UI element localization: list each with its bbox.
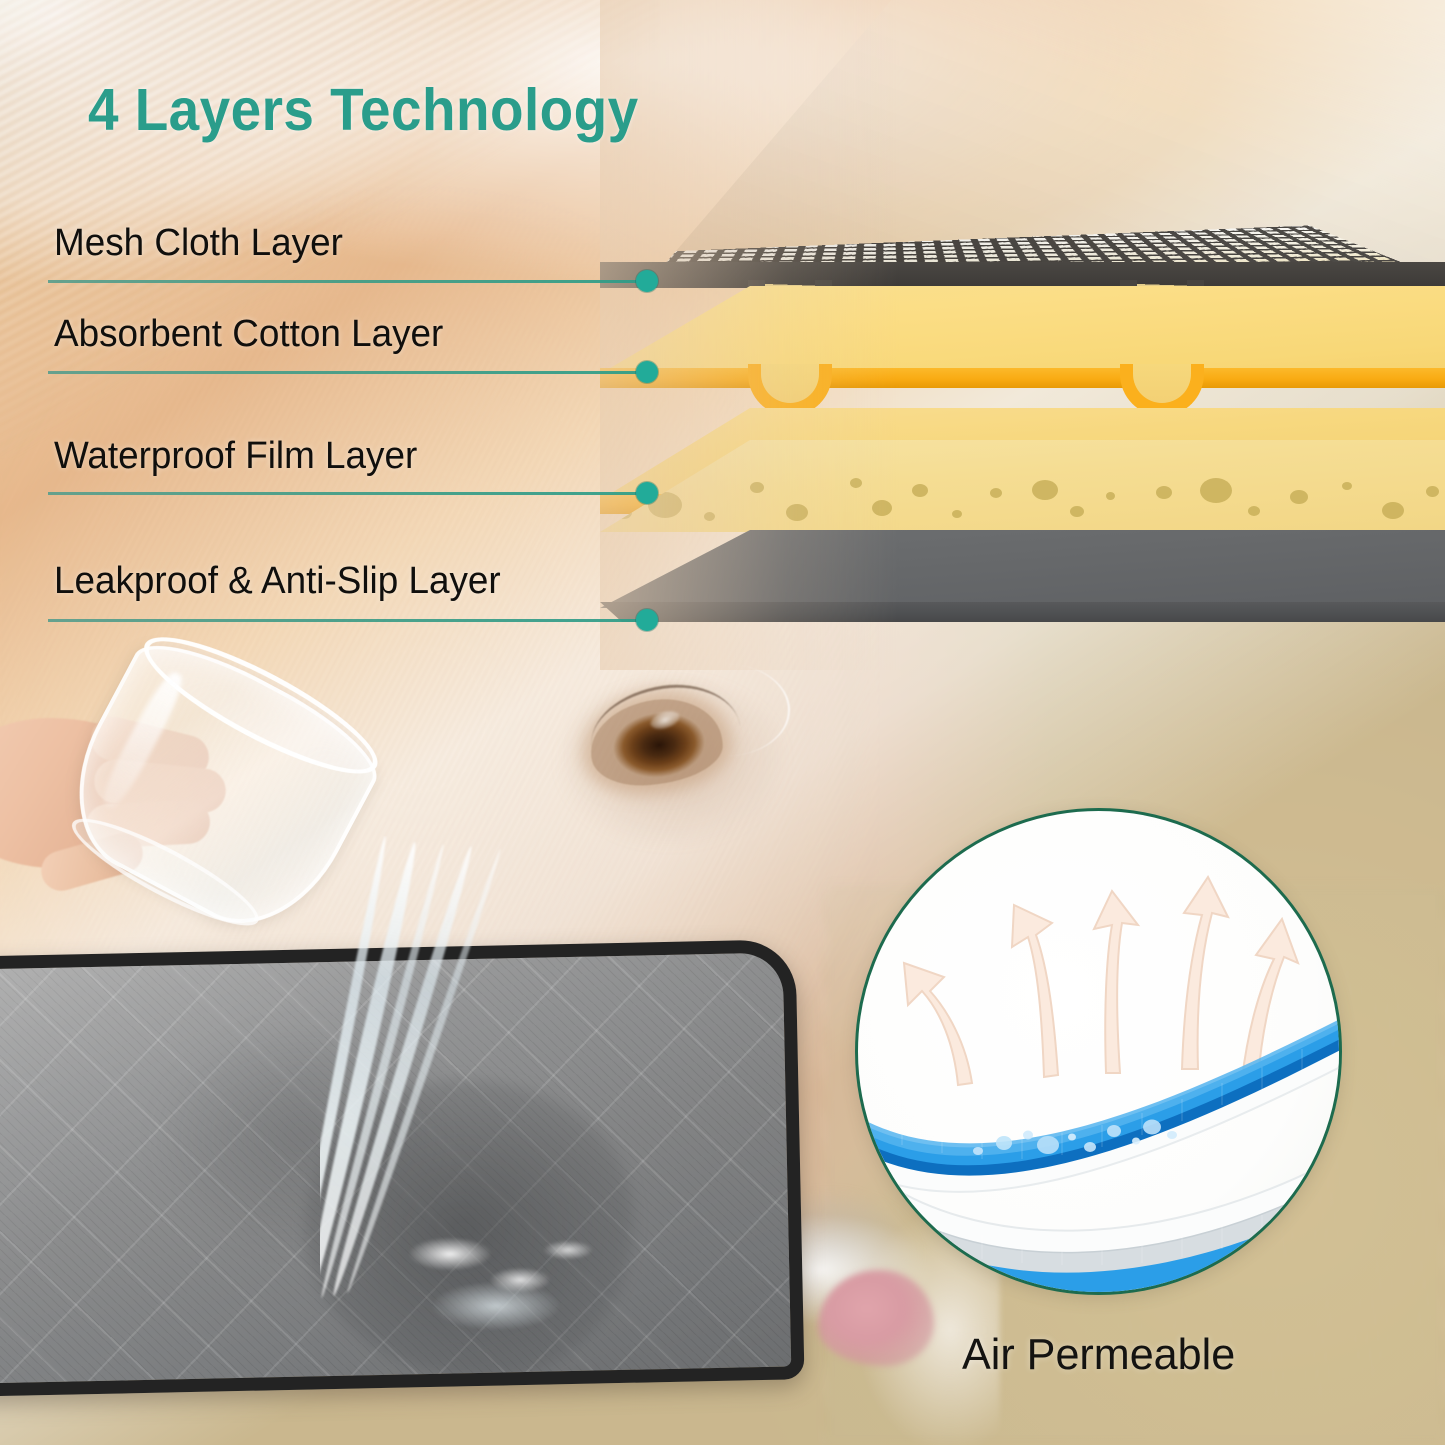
air-permeable-inset [855,808,1342,1295]
page-title: 4 Layers Technology [88,76,639,144]
cotton-front-edge [600,368,1445,388]
leakproof-anti-slip-layer-graphic [600,530,1445,650]
waterproof-film-layer-marker [636,482,658,504]
leader-line-absorbent-cotton [48,371,648,374]
leader-line-mesh-cloth [48,280,648,283]
leakproof-anti-slip-layer-marker [636,609,658,631]
cotton-top-face [600,286,1445,374]
leader-line-waterproof-film [48,492,648,495]
layer-label-leakproof-antislip: Leakproof & Anti-Slip Layer [54,560,501,603]
water-splash [400,1210,620,1330]
leader-line-leakproof-antislip [48,619,648,622]
layer-label-mesh-cloth: Mesh Cloth Layer [54,222,343,265]
layer-label-absorbent-cotton: Absorbent Cotton Layer [54,313,443,356]
antislip-top-face [600,530,1445,608]
antislip-front-edge [600,602,1445,622]
infographic-canvas: 4 Layers Technology Mesh Cloth Layer Abs… [0,0,1445,1445]
mesh-front-edge [600,262,1445,288]
layer-diagram [600,0,1445,670]
mesh-cloth-layer-marker [636,270,658,292]
air-permeable-caption: Air Permeable [962,1330,1235,1380]
absorbent-cotton-layer-graphic [600,286,1445,406]
layer-label-waterproof-film: Waterproof Film Layer [54,435,417,478]
absorbent-cotton-layer-marker [636,361,658,383]
upper-fabric-sheet [855,1019,1342,1209]
